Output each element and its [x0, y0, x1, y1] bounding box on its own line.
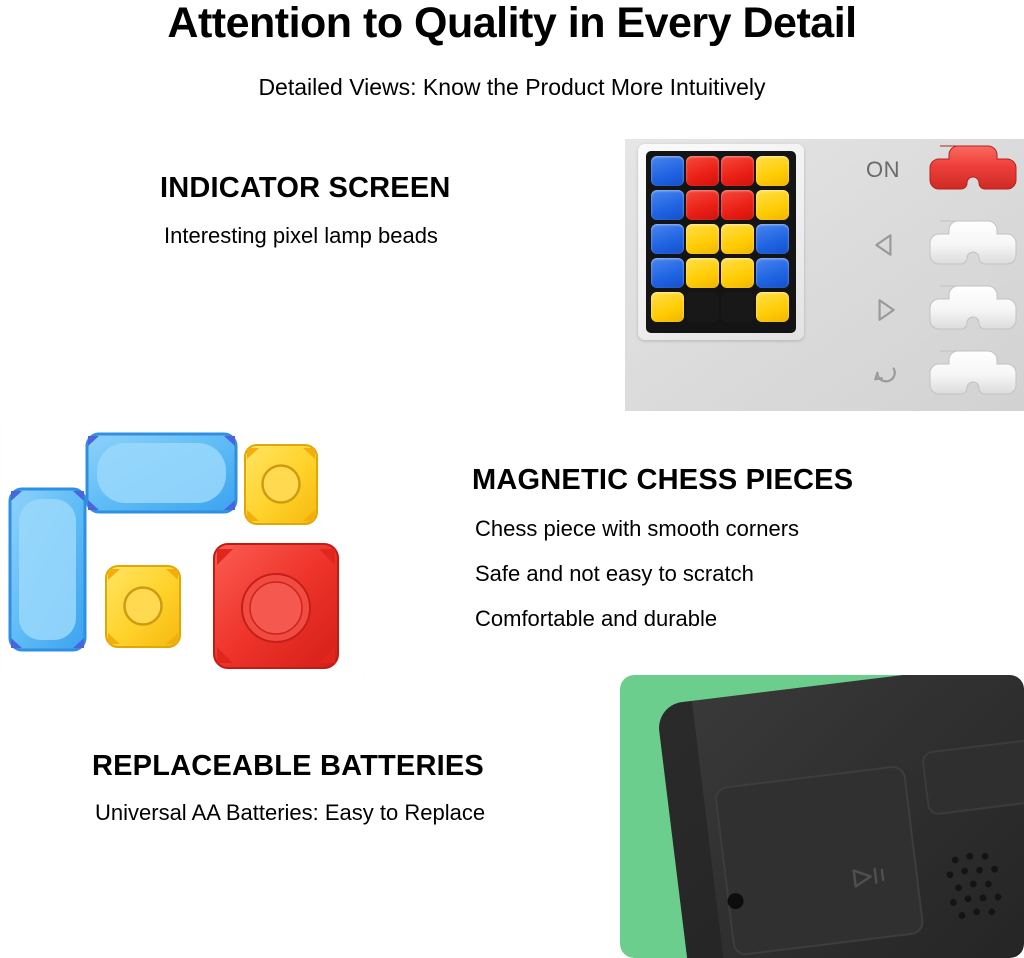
- blue-horizontal-piece: [85, 432, 238, 514]
- section-chess-pieces-body-line-1: Chess piece with smooth corners: [475, 515, 992, 543]
- section-indicator-screen-text: INDICATOR SCREEN Interesting pixel lamp …: [160, 170, 590, 250]
- section-indicator-screen-body: Interesting pixel lamp beads: [164, 222, 590, 250]
- led-cell: [686, 292, 719, 322]
- section-chess-pieces-body-line-2: Safe and not easy to scratch: [475, 560, 992, 588]
- led-cell: [686, 258, 719, 288]
- led-cell: [721, 224, 754, 254]
- led-cell: [756, 258, 789, 288]
- led-pixel-grid: [646, 151, 796, 333]
- led-cell: [756, 292, 789, 322]
- led-screen-bezel: [638, 144, 804, 340]
- chess-pieces-photo: [0, 414, 366, 686]
- led-row: [651, 292, 796, 326]
- right-move-button[interactable]: C: [910, 282, 1018, 338]
- led-cell: [651, 224, 684, 254]
- led-cell: [651, 190, 684, 220]
- power-switch[interactable]: ON OFF: [910, 142, 1018, 198]
- led-cell: [721, 292, 754, 322]
- section-chess-pieces-text: MAGNETIC CHESS PIECES Chess piece with s…: [472, 462, 992, 633]
- yellow-square-piece-2: [104, 564, 182, 649]
- triangle-left-icon: [872, 232, 898, 258]
- section-batteries-title: REPLACEABLE BATTERIES: [92, 748, 652, 784]
- section-batteries-body: Universal AA Batteries: Easy to Replace: [95, 799, 652, 827]
- product-infographic: Attention to Quality in Every Detail Det…: [0, 0, 1024, 958]
- section-chess-pieces-body-line-3: Comfortable and durable: [475, 605, 992, 633]
- page-subtitle: Detailed Views: Know the Product More In…: [0, 72, 1024, 102]
- led-cell: [651, 258, 684, 288]
- led-row: [651, 224, 796, 258]
- left-move-button-knob[interactable]: [910, 217, 1018, 269]
- section-batteries-text: REPLACEABLE BATTERIES Universal AA Batte…: [92, 748, 652, 827]
- led-row: [651, 156, 796, 190]
- indicator-screen-photo: ON OFF L: [625, 139, 1024, 411]
- led-cell: [686, 224, 719, 254]
- page-title: Attention to Quality in Every Detail: [0, 0, 1024, 48]
- led-cell: [686, 156, 719, 186]
- led-row: [651, 258, 796, 292]
- section-indicator-screen-title: INDICATOR SCREEN: [160, 170, 590, 206]
- led-cell: [756, 156, 789, 186]
- right-move-button-knob[interactable]: [910, 282, 1018, 334]
- power-switch-on-label: ON: [866, 157, 900, 183]
- undo-arrow-icon: [872, 362, 898, 388]
- section-chess-pieces-title: MAGNETIC CHESS PIECES: [472, 462, 992, 498]
- led-cell: [721, 190, 754, 220]
- led-cell: [651, 156, 684, 186]
- triangle-right-icon: [872, 297, 898, 323]
- yellow-square-piece-1: [243, 443, 319, 526]
- led-cell: [686, 190, 719, 220]
- led-cell: [721, 258, 754, 288]
- led-cell: [756, 224, 789, 254]
- led-cell: [651, 292, 684, 322]
- undo-reset-button[interactable]: [910, 347, 1018, 403]
- undo-reset-button-knob[interactable]: [910, 347, 1018, 399]
- power-switch-knob[interactable]: [910, 142, 1018, 194]
- left-move-button[interactable]: L: [910, 217, 1018, 273]
- led-cell: [721, 156, 754, 186]
- blue-vertical-piece: [8, 487, 87, 652]
- led-row: [651, 190, 796, 224]
- battery-compartment-photo: [620, 675, 1024, 958]
- led-cell: [756, 190, 789, 220]
- red-square-piece: [212, 542, 340, 670]
